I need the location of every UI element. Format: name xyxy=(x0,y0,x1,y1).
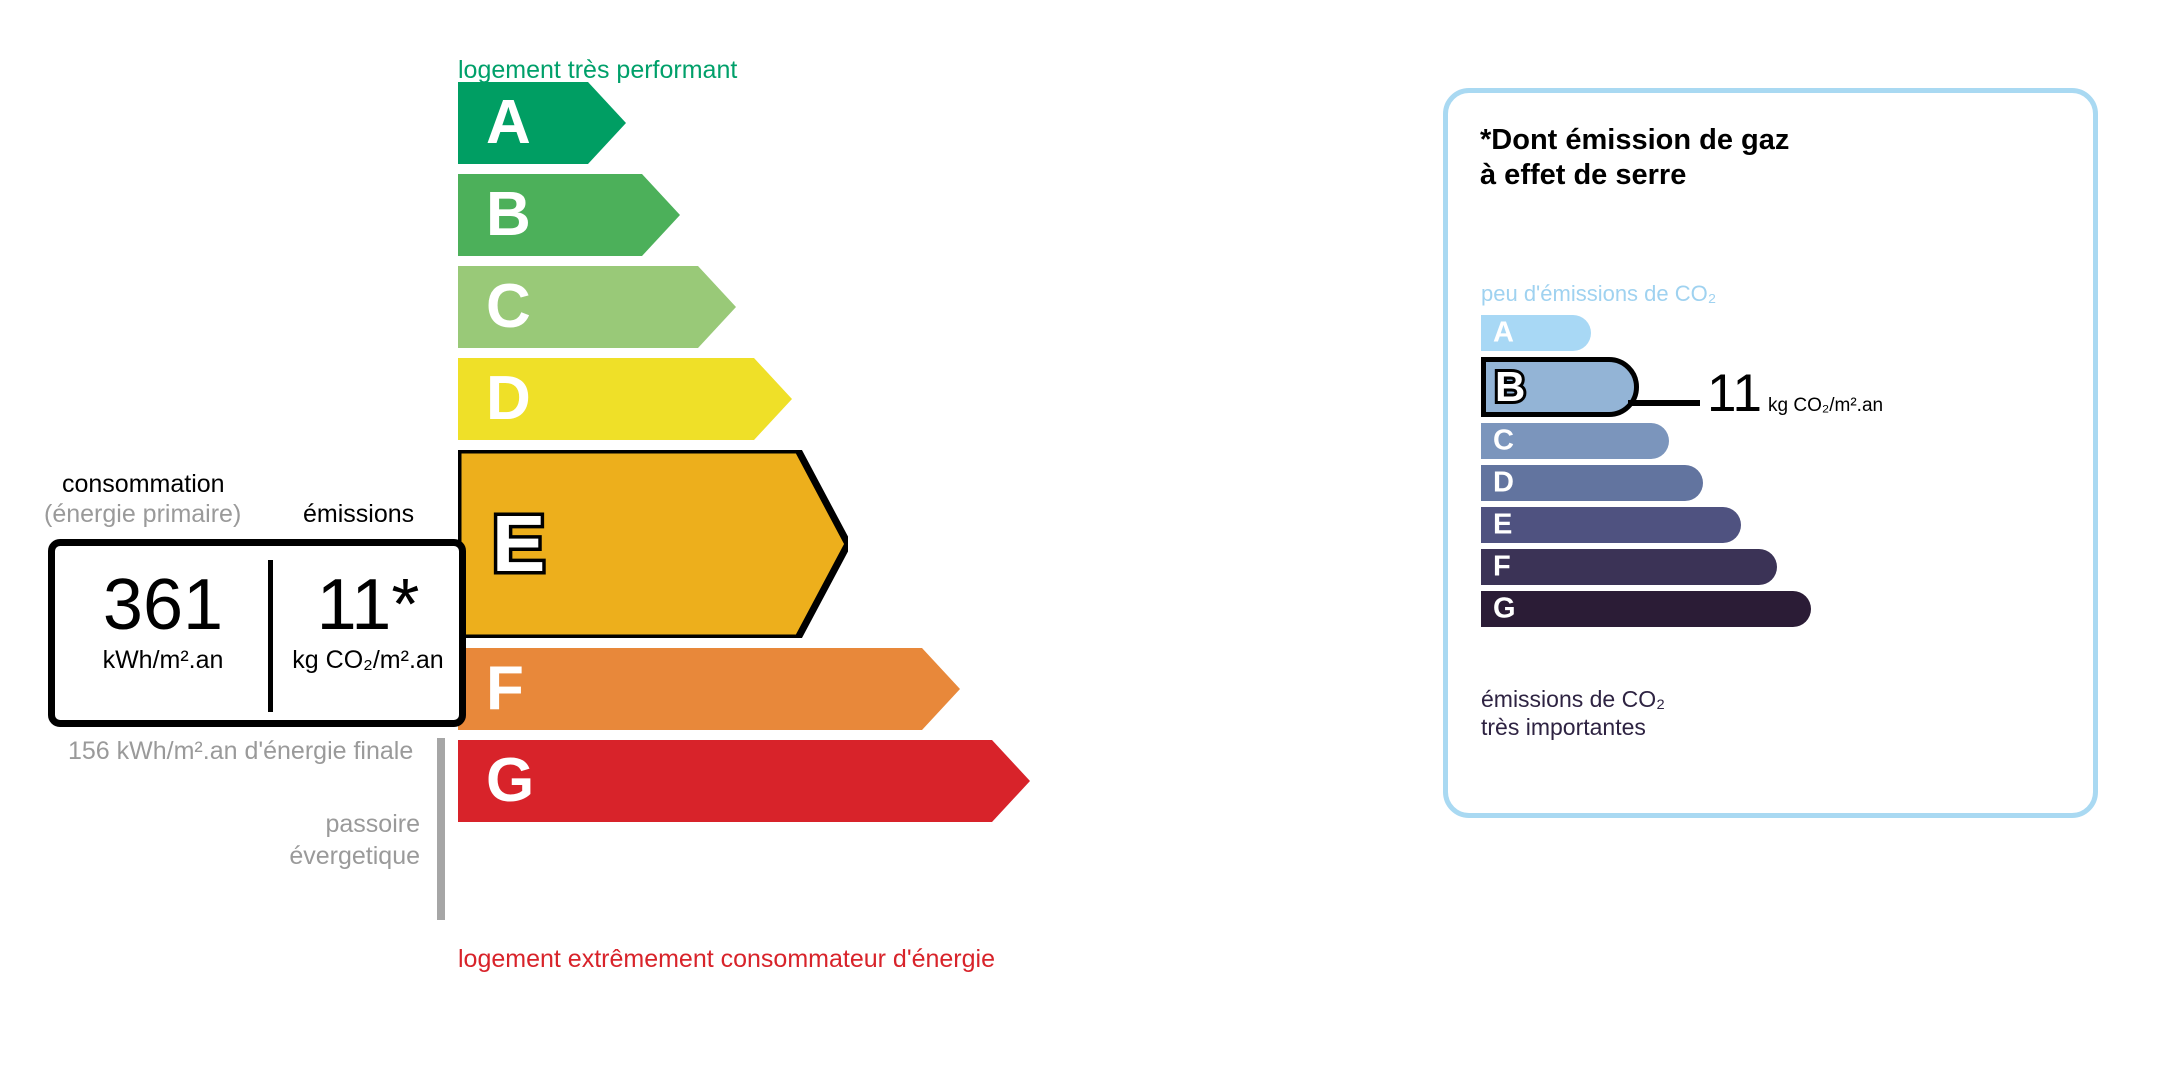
co2-bar-letter: F xyxy=(1493,553,1511,582)
co2-callout-unit: kg CO₂/m².an xyxy=(1768,395,1883,416)
consumption-value-cell: 361 kWh/m².an xyxy=(63,568,263,675)
co2-bar-e: E xyxy=(1481,507,1741,543)
co2-bar-letter: B xyxy=(1495,366,1525,408)
consumption-value-box: 361 kWh/m².an 11* kg CO₂/m².an xyxy=(48,539,466,727)
consumption-unit: kWh/m².an xyxy=(63,646,263,675)
energy-band-letter: G xyxy=(486,750,534,812)
emissions-label: émissions xyxy=(303,500,414,529)
energy-band-letter: B xyxy=(486,184,531,246)
energy-band-shape xyxy=(458,82,626,164)
co2-bar-d: D xyxy=(1481,465,1703,501)
primary-energy-label: (énergie primaire) xyxy=(44,500,241,529)
energy-band-e: E xyxy=(458,450,848,638)
energy-band-letter: C xyxy=(486,276,531,338)
co2-callout-number: 11 xyxy=(1707,364,1762,423)
emission-value-cell: 11* kg CO₂/m².an xyxy=(277,568,459,675)
energy-band-shape xyxy=(458,648,960,730)
co2-bar-fill xyxy=(1481,549,1777,585)
value-box-divider xyxy=(268,560,273,712)
co2-bar-fill xyxy=(1481,465,1703,501)
co2-bar-f: F xyxy=(1481,549,1777,585)
energy-band-letter: F xyxy=(486,658,524,720)
energy-band-letter: A xyxy=(486,92,531,154)
co2-callout-leader-line xyxy=(1628,400,1700,406)
co2-panel-title: *Dont émission de gaz à effet de serre xyxy=(1480,123,1789,193)
energy-band-b: B xyxy=(458,174,680,256)
co2-bar-fill xyxy=(1481,591,1811,627)
energy-band-c: C xyxy=(458,266,736,348)
consumption-value: 361 xyxy=(63,568,263,644)
co2-bar-fill xyxy=(1481,507,1741,543)
co2-bar-letter: D xyxy=(1493,469,1514,498)
emission-value: 11* xyxy=(277,568,459,644)
energy-band-g: G xyxy=(458,740,1030,822)
energy-band-a: A xyxy=(458,82,626,164)
co2-bar-letter: G xyxy=(1493,595,1516,624)
co2-top-caption: peu d'émissions de CO₂ xyxy=(1481,281,1716,307)
energy-top-caption: logement très performant xyxy=(458,56,737,85)
energy-band-shape xyxy=(458,740,1030,822)
emission-unit: kg CO₂/m².an xyxy=(277,646,459,675)
co2-callout: 11kg CO₂/m².an xyxy=(1707,367,1883,420)
co2-bar-b: B xyxy=(1481,357,1639,417)
co2-bar-c: C xyxy=(1481,423,1669,459)
energy-band-letter: E xyxy=(492,504,545,584)
passoire-energetique-label: passoire évergetique xyxy=(190,808,420,872)
final-energy-note: 156 kWh/m².an d'énergie finale xyxy=(68,735,413,767)
energy-band-f: F xyxy=(458,648,960,730)
co2-emissions-panel: *Dont émission de gaz à effet de serre p… xyxy=(1443,88,2098,818)
co2-bar-letter: E xyxy=(1493,511,1512,540)
co2-bar-letter: C xyxy=(1493,427,1514,456)
co2-bottom-caption: émissions de CO₂ très importantes xyxy=(1481,685,1665,741)
energy-band-d: D xyxy=(458,358,792,440)
co2-bar-g: G xyxy=(1481,591,1811,627)
energy-bottom-caption: logement extrêmement consommateur d'éner… xyxy=(458,945,995,974)
co2-bar-letter: A xyxy=(1493,319,1514,348)
consumption-label: consommation xyxy=(62,470,225,499)
passoire-bracket xyxy=(437,738,445,920)
energy-band-letter: D xyxy=(486,368,531,430)
energy-performance-panel: logement très performant ABCDEFG consomm… xyxy=(0,0,1400,1079)
co2-bar-a: A xyxy=(1481,315,1591,351)
